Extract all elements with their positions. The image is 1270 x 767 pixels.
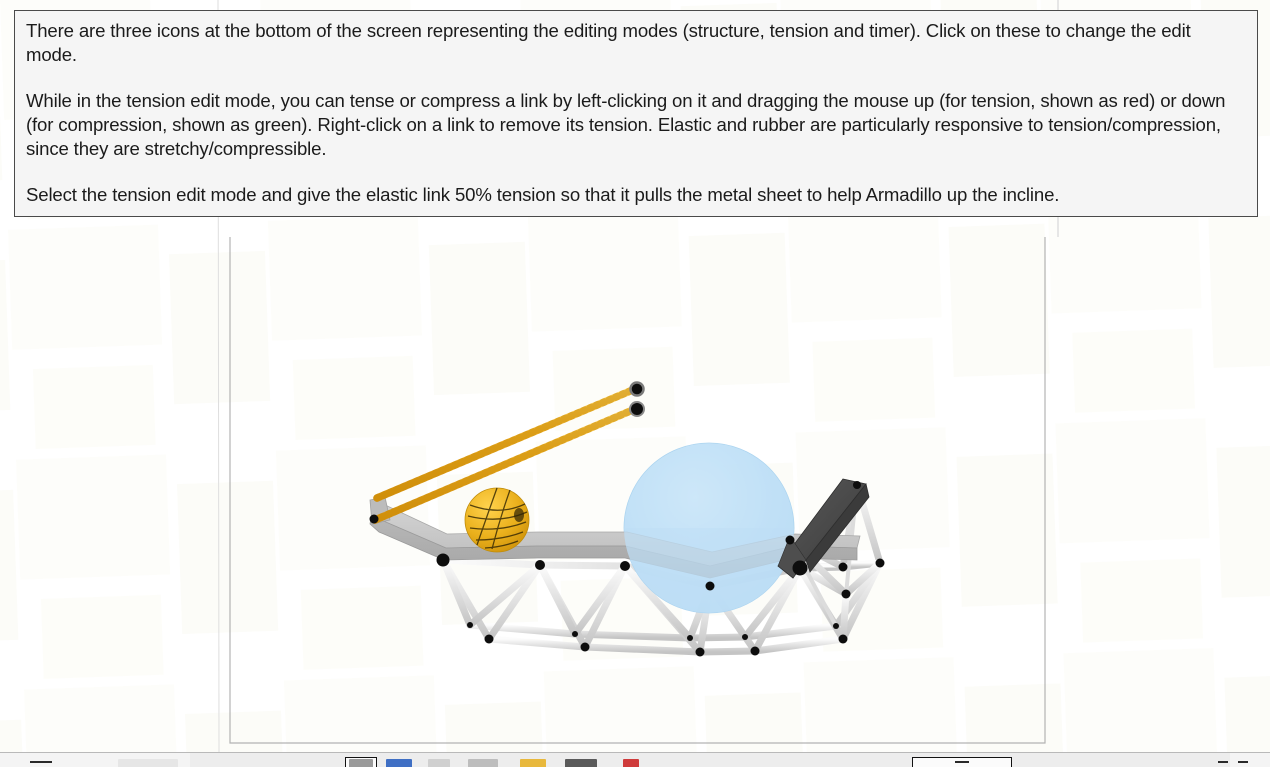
joint-node xyxy=(631,383,644,396)
joint-node xyxy=(572,631,578,637)
instruction-paragraph-2: While in the tension edit mode, you can … xyxy=(26,89,1246,161)
structure-mode-icon[interactable] xyxy=(349,759,373,767)
joint-node xyxy=(742,634,748,640)
joint-node xyxy=(485,635,494,644)
joint-node xyxy=(437,554,450,567)
tension-mode-icon[interactable] xyxy=(386,759,412,767)
joint-node xyxy=(467,622,473,628)
joint-node xyxy=(786,536,795,545)
instruction-paragraph-3: Select the tension edit mode and give th… xyxy=(26,183,1246,207)
joint-node xyxy=(842,590,851,599)
material-elastic-icon[interactable] xyxy=(520,759,546,767)
joint-node xyxy=(853,481,861,489)
armadillo-eye xyxy=(514,508,524,522)
joint-node xyxy=(751,647,760,656)
joint-node xyxy=(620,561,630,571)
joint-node xyxy=(696,648,705,657)
joint-node xyxy=(630,402,644,416)
run-button-glyph xyxy=(955,761,969,763)
instruction-panel: There are three icons at the bottom of t… xyxy=(14,10,1258,217)
application-window: There are three icons at the bottom of t… xyxy=(0,0,1270,767)
material-water-icon[interactable] xyxy=(623,759,639,767)
joint-node xyxy=(535,560,545,570)
bottom-toolbar[interactable] xyxy=(0,752,1270,767)
material-rubber-icon[interactable] xyxy=(565,759,597,767)
joint-node xyxy=(706,582,715,591)
toolbar-status-swatch xyxy=(118,759,178,767)
timer-mode-icon[interactable] xyxy=(428,759,450,767)
joint-node xyxy=(793,561,808,576)
instruction-paragraph-1: There are three icons at the bottom of t… xyxy=(26,19,1246,67)
toolbar-status-glyph-left xyxy=(30,761,52,763)
toolbar-status-glyph-right-a xyxy=(1218,761,1228,763)
joint-node xyxy=(833,623,839,629)
toolbar-status-glyph-right-b xyxy=(1238,761,1248,763)
material-steel-icon[interactable] xyxy=(468,759,498,767)
joint-node xyxy=(370,515,379,524)
joint-node xyxy=(876,559,885,568)
joint-node xyxy=(581,643,590,652)
joint-node xyxy=(839,635,848,644)
joint-node xyxy=(687,635,693,641)
armadillo-ball[interactable] xyxy=(465,488,529,552)
toolbar-right-strip xyxy=(1230,753,1270,767)
joint-node xyxy=(839,563,848,572)
